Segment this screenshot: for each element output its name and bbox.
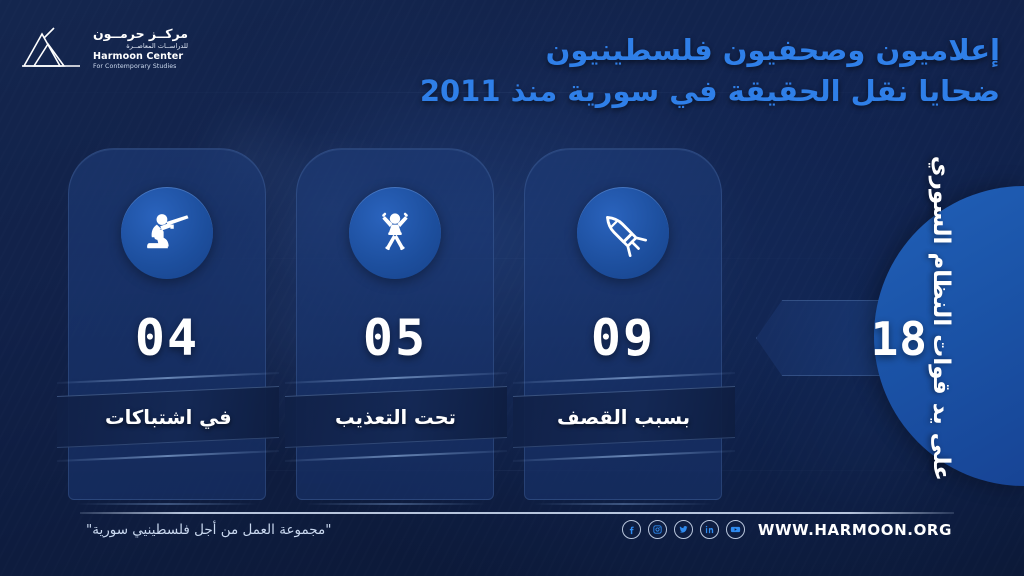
facebook-icon[interactable] — [622, 520, 641, 539]
stat-label: تحت التعذيب — [335, 406, 456, 429]
stat-label-band: في اشتباكات — [57, 386, 279, 448]
stat-number: 09 — [525, 309, 721, 367]
band-accent-bottom — [513, 450, 735, 462]
total-label: على يد قوات النظام السوري — [928, 191, 954, 481]
stat-label: بسبب القصف — [557, 406, 690, 429]
total-number: 18 — [871, 312, 928, 366]
linkedin-icon[interactable] — [700, 520, 719, 539]
stat-label-band: تحت التعذيب — [285, 386, 507, 448]
band-accent-top — [285, 372, 507, 384]
stat-number: 04 — [69, 309, 265, 367]
website-url[interactable]: WWW.HARMOON.ORG — [758, 521, 952, 539]
footer-social-bar: WWW.HARMOON.ORG — [622, 520, 952, 539]
stat-label-band: بسبب القصف — [513, 386, 735, 448]
stat-card-clashes: 04 في اشتباكات — [68, 148, 266, 500]
youtube-icon[interactable] — [726, 520, 745, 539]
soldier-kneeling-icon — [121, 187, 213, 279]
instagram-icon[interactable] — [648, 520, 667, 539]
stat-label: في اشتباكات — [105, 406, 232, 429]
band-accent-bottom — [285, 450, 507, 462]
stat-card-shelling: 09 بسبب القصف — [524, 148, 722, 500]
shackled-person-icon — [349, 187, 441, 279]
stat-number: 05 — [297, 309, 493, 367]
bomb-icon — [577, 187, 669, 279]
card-foot-rule — [305, 503, 485, 505]
band-accent-bottom — [57, 450, 279, 462]
band-accent-top — [513, 372, 735, 384]
source-note: "مجموعة العمل من أجل فلسطينيي سورية" — [86, 522, 331, 538]
card-foot-rule — [77, 503, 257, 505]
card-foot-rule — [533, 503, 713, 505]
band-accent-top — [57, 372, 279, 384]
footer-divider — [80, 512, 954, 514]
stat-card-torture: 05 تحت التعذيب — [296, 148, 494, 500]
twitter-icon[interactable] — [674, 520, 693, 539]
infographic-canvas: مركــز حرمــون للدراســات المعاصــرة Har… — [0, 0, 1024, 576]
stat-cards: 04 في اشتباكات — [0, 0, 1024, 576]
